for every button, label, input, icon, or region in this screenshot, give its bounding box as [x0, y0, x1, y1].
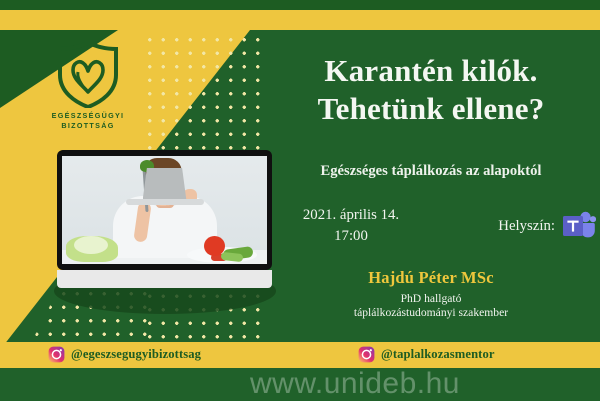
logo-text-line2: BIZOTTSÁG [36, 121, 140, 131]
title-line-1: Karantén kilók. [268, 52, 594, 90]
speaker-name: Hajdú Péter MSc [268, 268, 594, 288]
logo-text-line1: EGÉSZSÉGÜGYI [36, 111, 140, 121]
microsoft-teams-icon[interactable] [562, 211, 596, 241]
event-time: 17:00 [276, 226, 426, 247]
organization-logo: EGÉSZSÉGÜGYI BIZOTTSÁG [36, 42, 140, 130]
social-handle-1-text: @egeszsegugyibizottsag [71, 347, 201, 362]
speaker-block: Hajdú Péter MSc PhD hallgató táplálkozás… [268, 268, 594, 319]
monitor-base-bar [57, 270, 272, 288]
photo-lettuce-core [74, 236, 108, 254]
title-line-2: Tehetünk ellene? [268, 90, 594, 128]
social-handle-2[interactable]: @taplalkozasmentor [358, 346, 495, 363]
speaker-role-secondary: táplálkozástudományi szakember [268, 306, 594, 319]
instagram-icon [358, 346, 375, 363]
watermark: www.unideb.hu [0, 367, 600, 401]
event-place-block: Helyszín: [498, 211, 596, 241]
social-handle-1[interactable]: @egeszsegugyibizottsag [48, 346, 201, 363]
shield-heart-icon [56, 42, 120, 108]
monitor-stand-foot [126, 199, 204, 205]
speaker-role-primary: PhD hallgató [268, 292, 594, 305]
instagram-icon [48, 346, 65, 363]
top-green-band [0, 0, 600, 10]
page-title: Karantén kilók. Tehetünk ellene? [268, 52, 594, 128]
event-info-row: 2021. április 14. 17:00 Helyszín: [276, 205, 596, 247]
event-date: 2021. április 14. [276, 205, 426, 226]
monitor-stand-neck [143, 168, 187, 201]
event-date-block: 2021. április 14. 17:00 [276, 205, 426, 247]
place-label: Helyszín: [498, 218, 555, 235]
subtitle: Egészséges táplálkozás az alapoktól [268, 163, 594, 180]
social-handle-2-text: @taplalkozasmentor [381, 347, 495, 362]
top-yellow-stripe [0, 10, 600, 30]
logo-text: EGÉSZSÉGÜGYI BIZOTTSÁG [36, 111, 140, 130]
poster-canvas: EGÉSZSÉGÜGYI BIZOTTSÁG [0, 0, 600, 401]
monitor-graphic [57, 150, 272, 288]
